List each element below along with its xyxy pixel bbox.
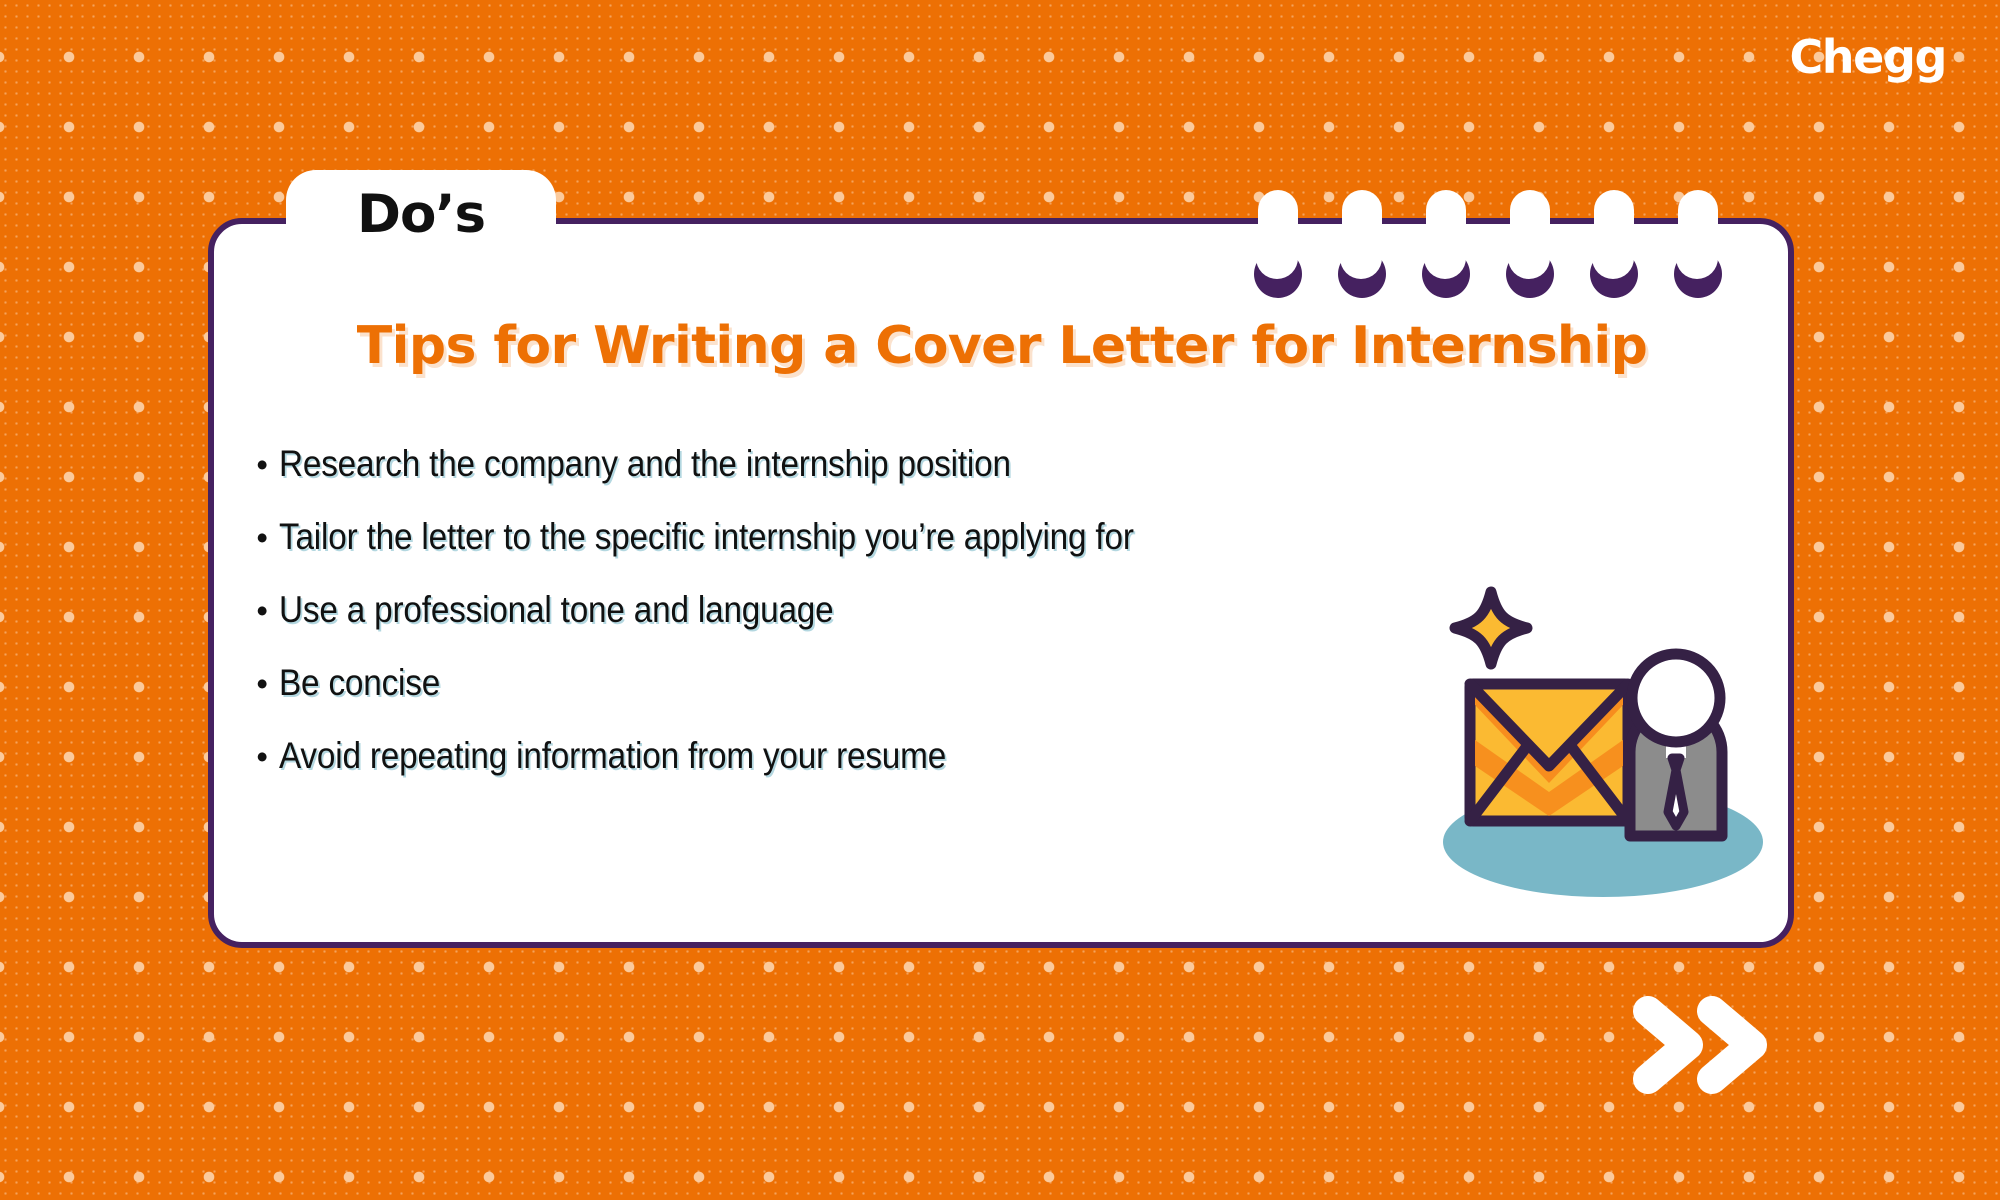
list-item-label: Tailor the letter to the specific intern… <box>279 516 1134 558</box>
spiral-ring-hook <box>1590 250 1638 298</box>
chegg-logo: Chegg <box>1789 30 1946 84</box>
spiral-ring <box>1258 190 1298 300</box>
spiral-ring-hook <box>1506 250 1554 298</box>
person-head <box>1632 654 1720 742</box>
sparkle-icon <box>1455 592 1527 664</box>
spiral-ring-hook <box>1674 250 1722 298</box>
dos-tab-label: Do’s <box>357 184 485 249</box>
dos-tab: Do’s <box>286 170 556 262</box>
bullet-marker-icon: • <box>245 448 279 481</box>
list-item: • Be concise <box>245 662 1425 704</box>
spiral-ring <box>1510 190 1550 300</box>
list-item: • Tailor the letter to the specific inte… <box>245 516 1425 558</box>
list-item: • Research the company and the internshi… <box>245 443 1425 485</box>
spiral-ring <box>1678 190 1718 300</box>
spiral-ring-hook <box>1422 250 1470 298</box>
spiral-ring <box>1594 190 1634 300</box>
spiral-binding <box>1258 190 1718 300</box>
spiral-ring-hook <box>1254 250 1302 298</box>
bullet-marker-icon: • <box>245 740 279 773</box>
tips-list: • Research the company and the internshi… <box>245 443 1425 808</box>
double-chevron-right-icon <box>1630 995 1800 1095</box>
bullet-marker-icon: • <box>245 667 279 700</box>
list-item: • Avoid repeating information from your … <box>245 735 1425 777</box>
spiral-ring <box>1342 190 1382 300</box>
spiral-ring <box>1426 190 1466 300</box>
list-item-label: Research the company and the internship … <box>279 443 1011 485</box>
chevron-right-2 <box>1712 1011 1752 1079</box>
list-item-label: Use a professional tone and language <box>279 589 833 631</box>
bullet-marker-icon: • <box>245 594 279 627</box>
page-title: Tips for Writing a Cover Letter for Inte… <box>262 316 1742 376</box>
chevron-right-1 <box>1648 1011 1688 1079</box>
list-item: • Use a professional tone and language <box>245 589 1425 631</box>
spiral-ring-hook <box>1338 250 1386 298</box>
envelope-with-businessperson-icon <box>1418 580 1778 900</box>
list-item-label: Avoid repeating information from your re… <box>279 735 946 777</box>
list-item-label: Be concise <box>279 662 440 704</box>
bullet-marker-icon: • <box>245 521 279 554</box>
